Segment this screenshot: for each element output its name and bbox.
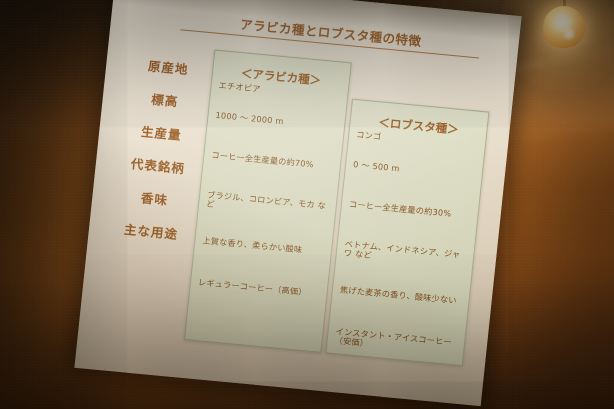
robusta-card: ＜ロブスタ種＞ コンゴ 0 ～ 500 m コーヒー全生産量の約30% ベトナム… bbox=[325, 99, 489, 367]
arabica-usage: レギュラーコーヒー（高価） bbox=[197, 278, 321, 299]
arabica-flavor: 上質な香り、柔らかい酸味 bbox=[202, 236, 326, 257]
arabica-altitude: 1000 ～ 2000 m bbox=[215, 111, 339, 132]
arabica-card: ＜アラビカ種＞ エチオピア 1000 ～ 2000 m コーヒー全生産量の約70… bbox=[184, 50, 352, 353]
robusta-output: コーヒー全生産量の約30% bbox=[348, 200, 472, 221]
ceiling-lamp bbox=[541, 4, 587, 50]
presentation-slide: アラビカ種とロブスタ種の特徴 原産地 標高 生産量 代表銘柄 香味 主な用途 ＜… bbox=[74, 0, 521, 406]
arabica-brands: ブラジル、コロンビア、モカ など bbox=[206, 190, 331, 220]
projection-screen: アラビカ種とロブスタ種の特徴 原産地 標高 生産量 代表銘柄 香味 主な用途 ＜… bbox=[74, 0, 521, 406]
robusta-usage: インスタント・アイスコーヒー（安価） bbox=[334, 327, 459, 357]
robusta-altitude: 0 ～ 500 m bbox=[353, 160, 477, 181]
robusta-flavor: 焦げた麦茶の香り、酸味少ない bbox=[339, 285, 463, 306]
arabica-output: コーヒー全生産量の約70% bbox=[211, 151, 335, 172]
lamp-bulb-reflection bbox=[563, 28, 575, 40]
robusta-brands: ベトナム、インドネシア、ジャワ など bbox=[343, 240, 468, 270]
photo-scene: アラビカ種とロブスタ種の特徴 原産地 標高 生産量 代表銘柄 香味 主な用途 ＜… bbox=[0, 0, 614, 409]
